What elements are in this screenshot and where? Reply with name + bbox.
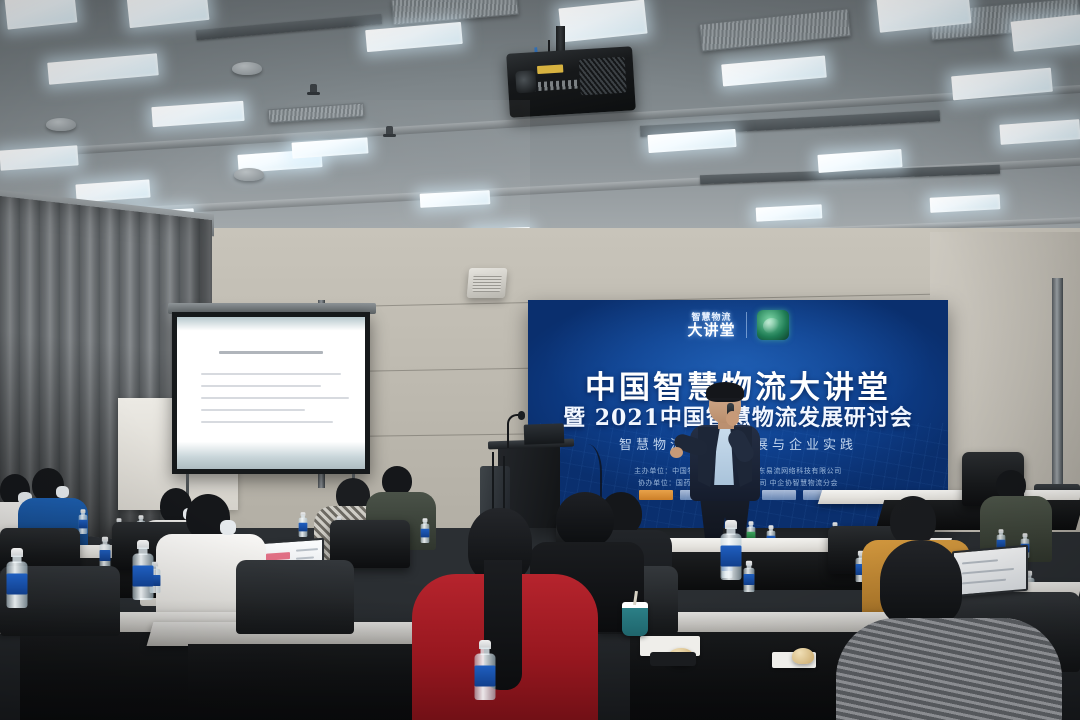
projection-screen[interactable]	[177, 317, 365, 469]
event-logo-top: 智慧物流	[691, 313, 731, 322]
presenter-left-hand	[670, 447, 683, 458]
face-mask	[220, 520, 236, 535]
water-bottle[interactable]	[133, 540, 154, 600]
wall-loudspeaker	[467, 268, 508, 298]
laptop-screen-line	[962, 568, 1014, 575]
chair[interactable]	[236, 560, 354, 634]
slide-text-line	[201, 385, 321, 387]
glasses-icon	[710, 398, 740, 405]
smoke-detector-icon	[46, 118, 76, 131]
gooseneck-microphone	[507, 414, 521, 448]
globe-logo-icon	[757, 310, 789, 340]
water-bottle[interactable]	[744, 561, 755, 592]
projector-lens-icon	[515, 70, 536, 93]
sprinkler-icon	[386, 126, 393, 136]
attendee-head	[556, 492, 614, 548]
water-bottle[interactable]	[100, 537, 111, 568]
banner-logo-row: 智慧物流 大讲堂	[528, 310, 948, 340]
sponsor-logo	[639, 490, 673, 500]
water-bottle[interactable]	[721, 520, 742, 580]
water-bottle[interactable]	[421, 518, 430, 543]
projector-badge	[537, 64, 563, 74]
sprinkler-icon	[310, 84, 317, 94]
water-bottle[interactable]	[7, 548, 28, 608]
smoke-detector-icon	[232, 62, 262, 75]
slide-title-line	[219, 351, 323, 354]
coffee-cup[interactable]	[622, 602, 648, 636]
projector-vent	[579, 57, 627, 96]
water-bottle[interactable]	[299, 512, 308, 537]
water-bottle[interactable]	[79, 509, 88, 534]
presenter-right-hand	[726, 411, 739, 426]
attendee-head	[890, 496, 936, 546]
laptop-screen-line	[962, 559, 998, 564]
lectern-laptop[interactable]	[524, 423, 565, 444]
laptop-screen-line	[962, 579, 1006, 585]
attendee-head	[880, 540, 962, 626]
face-mask	[56, 486, 69, 498]
slide-text-line	[201, 397, 349, 399]
conference-photo-scene: 智慧物流 大讲堂 中国智慧物流大讲堂 暨 2021中国智慧物流发展研讨会 智慧物…	[0, 0, 1080, 720]
attendee-laptop-screen[interactable]	[952, 545, 1028, 598]
table-underside	[188, 644, 418, 720]
plaid-coat-body	[836, 618, 1062, 720]
pastry	[792, 648, 814, 664]
slide-text-line	[201, 373, 341, 375]
support-pole	[1052, 278, 1063, 490]
tableware-item	[650, 652, 696, 666]
event-logo: 智慧物流 大讲堂	[687, 313, 735, 338]
slide-text-line	[201, 409, 305, 411]
event-logo-bottom: 大讲堂	[687, 323, 735, 338]
smoke-detector-icon	[234, 168, 264, 181]
water-bottle[interactable]	[475, 640, 496, 700]
slide-text-line	[201, 421, 333, 423]
ceiling-projector	[506, 46, 636, 118]
laptop-screen-line	[296, 548, 318, 552]
logo-divider	[746, 312, 747, 338]
